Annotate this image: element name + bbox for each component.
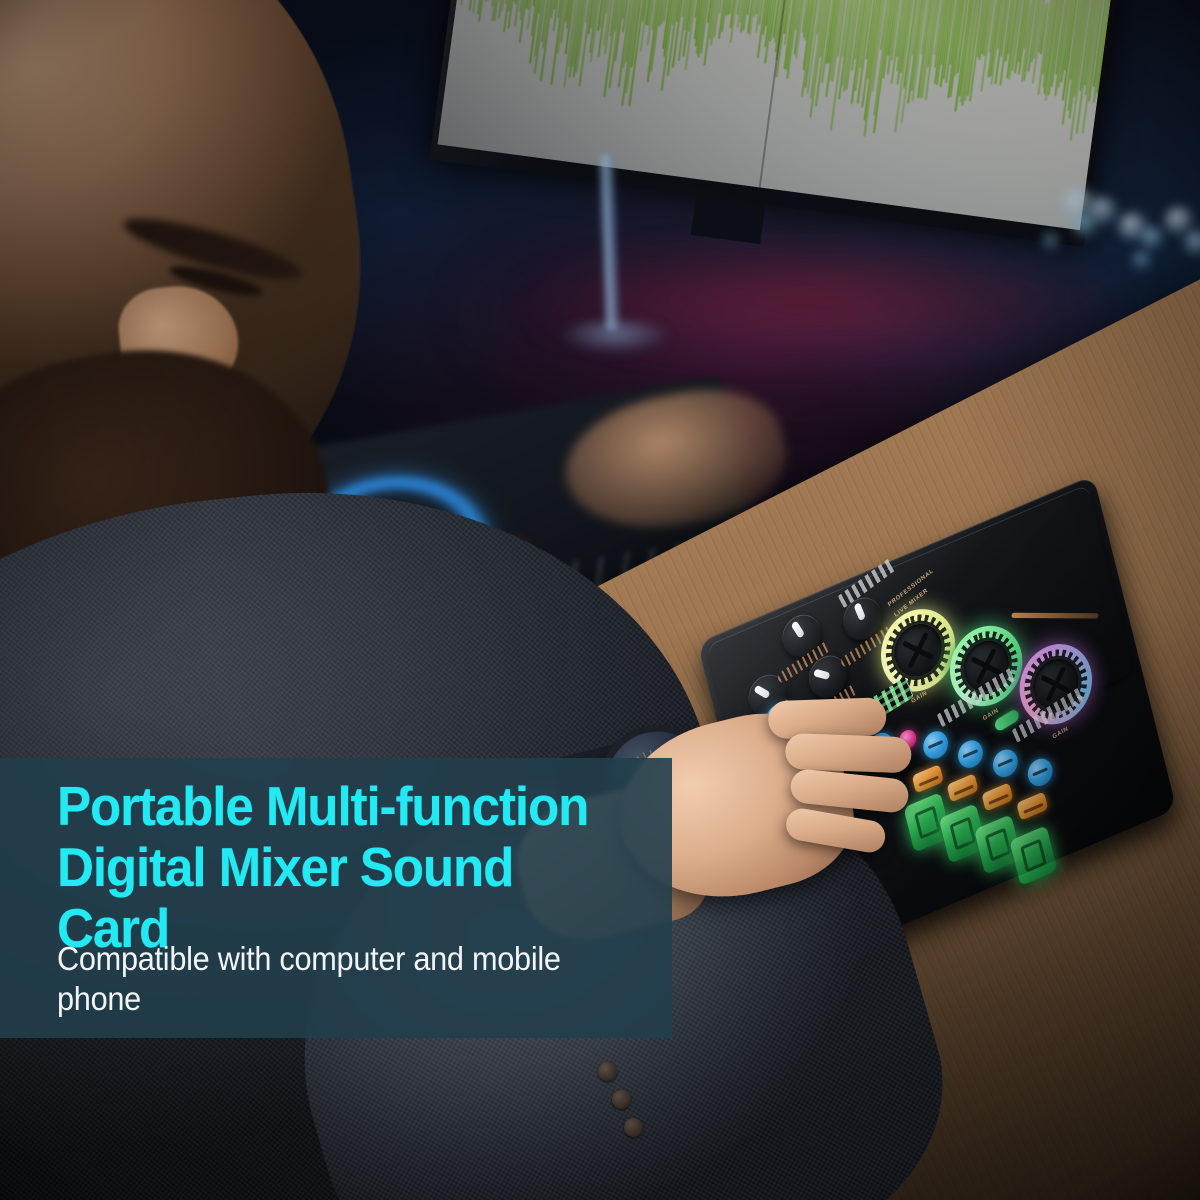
bokeh-light: [1140, 226, 1164, 250]
marketing-text-panel: Portable Multi-function Digital Mixer So…: [0, 758, 672, 1038]
bokeh-light: [1042, 232, 1060, 250]
mixer-slider-track: [1011, 613, 1099, 619]
sleeve-button-2: [612, 1090, 631, 1109]
finger-middle: [785, 733, 912, 773]
finger-index: [768, 697, 887, 739]
headline: Portable Multi-function Digital Mixer So…: [57, 776, 615, 959]
bokeh-light: [1132, 250, 1152, 270]
product-banner: PROFESSIONAL LIVE MIXER GAIN GAIN GAIN: [0, 0, 1200, 1200]
sleeve-button-1: [598, 1062, 617, 1081]
subheadline: Compatible with computer and mobile phon…: [57, 939, 624, 1019]
sleeve-button-3: [624, 1118, 643, 1137]
bokeh-light: [1072, 212, 1098, 238]
microphone-base: [560, 320, 670, 354]
